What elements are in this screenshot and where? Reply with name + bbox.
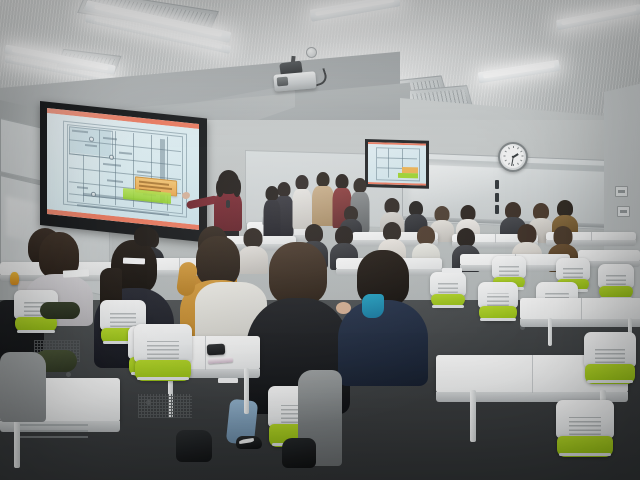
secondary-projection-screen xyxy=(368,142,426,186)
bag-on-floor-2 xyxy=(282,438,316,468)
plan-grid-v3 xyxy=(115,131,116,205)
backpack-on-floor xyxy=(176,430,212,462)
handout-paper-front xyxy=(218,378,238,383)
seated-student-front-6-scarf xyxy=(362,294,384,318)
secondary-slide-highlight xyxy=(398,173,418,179)
slide-floor-plan xyxy=(47,113,199,225)
main-projection-screen xyxy=(47,108,199,230)
seated-student-front-6-hand xyxy=(336,302,351,314)
desk-leg-r1 xyxy=(548,318,552,346)
chair-basket-center xyxy=(138,394,192,418)
wall-switch-lower[interactable] xyxy=(617,206,630,217)
presenter-hair-right xyxy=(233,179,241,197)
whiteboard-marker-1 xyxy=(495,180,499,189)
presenter-jacket xyxy=(214,191,242,231)
whiteboard-marker-2 xyxy=(495,193,499,202)
wall-clock xyxy=(498,142,528,172)
grey-coat-left xyxy=(0,352,46,422)
wall-switch-upper[interactable] xyxy=(615,186,628,197)
desk-leg-l1 xyxy=(14,418,20,468)
desk-right-large-1 xyxy=(520,298,640,320)
ceiling-speaker xyxy=(306,47,317,58)
seated-student-front-6 xyxy=(340,250,426,378)
chair-right-5 xyxy=(478,282,518,324)
s2-plan-v1 xyxy=(388,149,389,178)
handout-paper-2 xyxy=(123,258,145,265)
chair-right-3 xyxy=(598,264,634,302)
desk-front-left-slots xyxy=(18,424,88,438)
plan-marker-2 xyxy=(109,155,114,160)
plan-marker-4 xyxy=(91,192,96,197)
chair-right-8 xyxy=(556,400,614,462)
presenter-microphone xyxy=(226,200,230,208)
chair-right-4 xyxy=(430,272,466,310)
chair-caster-2 xyxy=(66,372,71,377)
olive-bag-on-chair xyxy=(40,302,80,319)
handout-paper-1 xyxy=(63,269,89,277)
sneaker xyxy=(236,436,262,449)
plan-grid-v2 xyxy=(99,129,100,203)
handout-paper-3 xyxy=(442,268,462,273)
chair-front-center xyxy=(134,324,192,386)
desk-leg-r3 xyxy=(470,390,476,442)
desk-figurine[interactable] xyxy=(10,272,19,285)
pencil-case[interactable] xyxy=(207,344,226,356)
projector-lens xyxy=(277,77,289,87)
plan-marker-1 xyxy=(89,136,94,141)
classroom-photo xyxy=(0,0,640,480)
presenter-hair-left xyxy=(216,180,224,197)
secondary-slide-plan xyxy=(368,144,426,184)
desk-leg-c2 xyxy=(244,368,249,414)
seated-student-front-8 xyxy=(132,226,158,246)
whiteboard-marker-3 xyxy=(495,205,499,214)
chair-right-7 xyxy=(584,332,636,388)
